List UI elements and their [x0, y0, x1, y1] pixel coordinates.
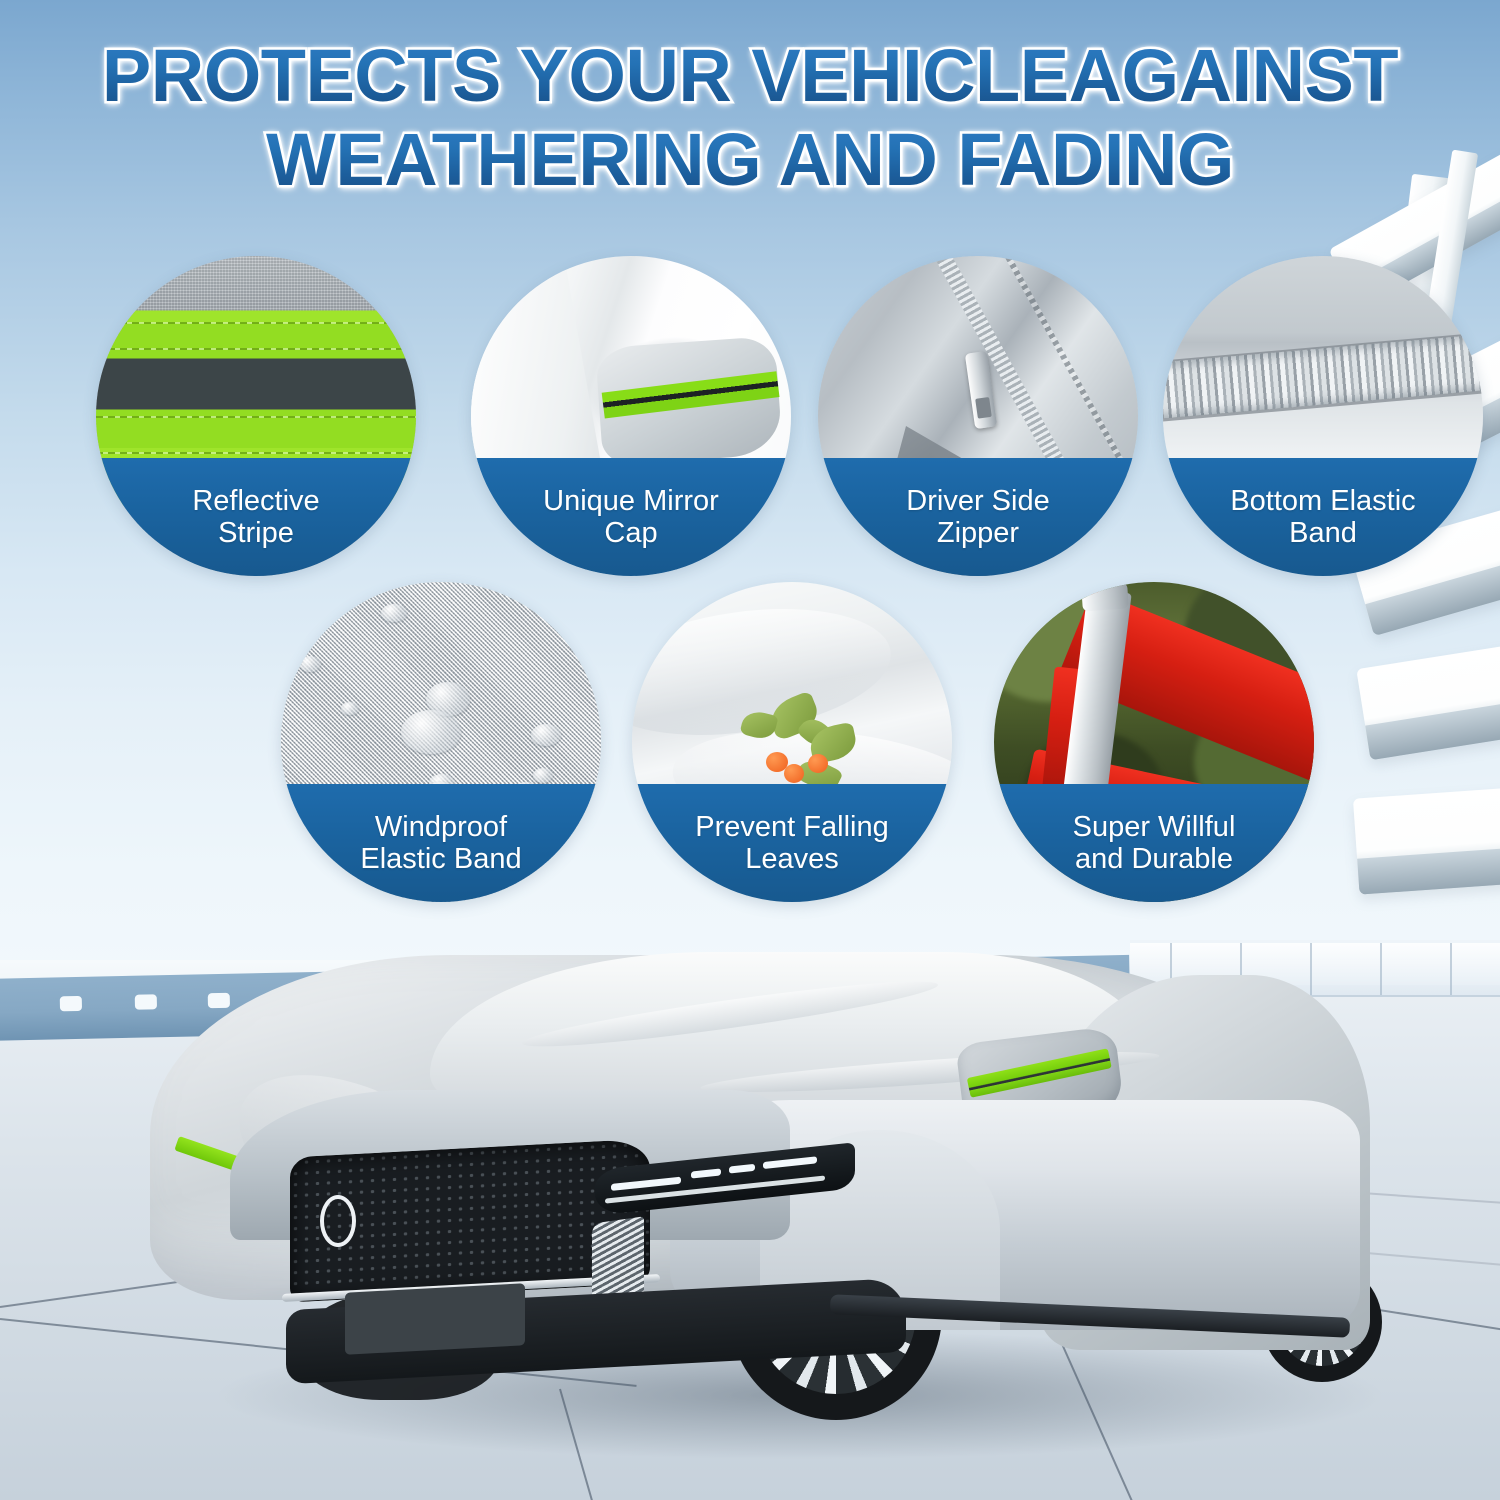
feature-label-banner: Reflective Stripe [96, 458, 416, 576]
feature-label-line2: Cap [594, 517, 667, 549]
feature-label-line1: Reflective [182, 485, 329, 517]
feature-label-line1: Prevent Falling [685, 811, 898, 843]
feature-label-banner: Unique Mirror Cap [471, 458, 791, 576]
feature-label-banner: Prevent Falling Leaves [632, 784, 952, 902]
green-reflective-stripe [602, 371, 780, 418]
feature-label-line2: Zipper [927, 517, 1029, 549]
feature-label-banner: Super Willful and Durable [994, 784, 1314, 902]
feature-card-unique-mirror-cap[interactable]: Unique Mirror Cap [471, 256, 791, 576]
feature-label-line1: Super Willful [1063, 811, 1246, 843]
feature-label-line2: Stripe [208, 517, 304, 549]
feature-label-line1: Driver Side [896, 485, 1059, 517]
feature-card-windproof-elastic-band[interactable]: Windproof Elastic Band [281, 582, 601, 902]
feature-label-line2: Elastic Band [350, 843, 531, 875]
feature-label-banner: Driver Side Zipper [818, 458, 1138, 576]
feature-label-line1: Unique Mirror [533, 485, 729, 517]
license-plate [345, 1283, 525, 1354]
feature-label-line2: Leaves [735, 843, 849, 875]
feature-card-driver-side-zipper[interactable]: Driver Side Zipper [818, 256, 1138, 576]
brand-emblem-icon [320, 1195, 356, 1247]
vehicle-body [220, 1070, 1340, 1370]
headline-line2: WEATHERING AND FADING [0, 122, 1500, 198]
feature-label-line2: and Durable [1065, 843, 1243, 875]
feature-label-banner: Windproof Elastic Band [281, 784, 601, 902]
headline-line1: PROTECTS YOUR VEHICLEAGAINST [0, 38, 1500, 114]
headline: PROTECTS YOUR VEHICLEAGAINST PROTECTS YO… [0, 38, 1500, 198]
feature-card-bottom-elastic-band[interactable]: Bottom Elastic Band [1163, 256, 1483, 576]
feature-label-banner: Bottom Elastic Band [1163, 458, 1483, 576]
product-infographic: PROTECTS YOUR VEHICLEAGAINST PROTECTS YO… [0, 0, 1500, 1500]
feature-card-prevent-falling-leaves[interactable]: Prevent Falling Leaves [632, 582, 952, 902]
feature-card-reflective-stripe[interactable]: Reflective Stripe [96, 256, 416, 576]
feature-label-line1: Windproof [365, 811, 517, 843]
feature-label-line1: Bottom Elastic [1220, 485, 1425, 517]
mirror-pocket-shape [595, 336, 783, 466]
feature-label-line2: Band [1279, 517, 1367, 549]
feature-card-super-willful-durable[interactable]: Super Willful and Durable [994, 582, 1314, 902]
